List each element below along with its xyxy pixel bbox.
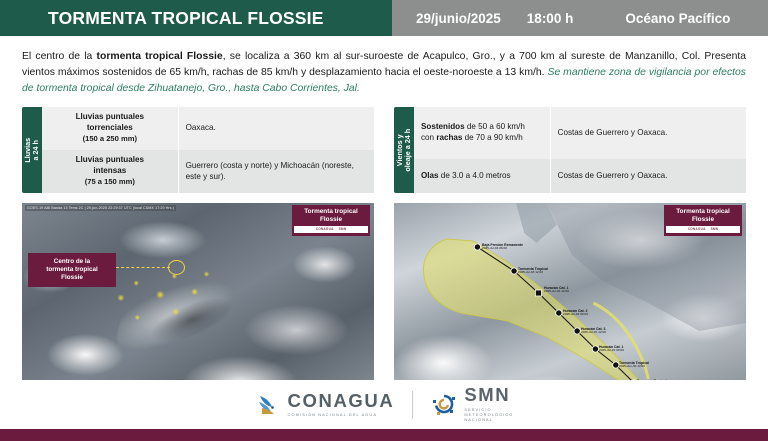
conagua-logo-icon: CONAGUA: [316, 227, 334, 231]
center-label-l1: Centro de la: [54, 258, 90, 265]
storm-center-ring-icon: [168, 260, 185, 275]
image-panels: GOES-19 ABI Banda 13 Tems 2C | 29-jun-20…: [22, 203, 746, 408]
summary-storm-name: tormenta tropical Flossie: [97, 51, 223, 62]
table-row: Lluvias puntuales torrenciales (150 a 25…: [42, 107, 374, 150]
track-label-5-stamp: 2025-Jul-01 00:00: [599, 349, 624, 353]
rain-table: Lluviasa 24 h Lluvias puntuales torrenci…: [22, 107, 374, 193]
wind-row0-t1: de 50 a 60 km/h: [465, 122, 525, 131]
wind-table: Vientos yoleaje a 24 h Sostenidos de 50 …: [394, 107, 746, 193]
summary-part1: El centro de la: [22, 51, 97, 62]
satellite-storm-badge: Tormenta tropical Flossie CONAGUA SMN: [292, 205, 370, 236]
bulletin-date: 29/junio/2025: [416, 11, 501, 26]
page-title: TORMENTA TROPICAL FLOSSIE: [0, 0, 392, 36]
rain-row1-range: (75 a 150 mm): [85, 177, 135, 186]
wind-row0-t2: con: [421, 133, 436, 142]
track-label-1-stamp: 2025-Jul-03 12:00: [518, 271, 548, 275]
wind-row0-areas: Costas de Guerrero y Oaxaca.: [550, 107, 746, 159]
rain-row1-kind: Lluvias puntuales intensas (75 a 150 mm): [42, 150, 178, 193]
forecast-tables: Lluviasa 24 h Lluvias puntuales torrenci…: [22, 107, 746, 193]
wind-side-l1: Vientos y: [395, 134, 404, 166]
wind-row1-kind: Olas de 3.0 a 4.0 metros: [414, 159, 550, 193]
track-label-4-stamp: 2025-Jul-01 12:00: [581, 331, 606, 335]
satellite-panel: GOES-19 ABI Banda 13 Tems 2C | 29-jun-20…: [22, 203, 374, 408]
bulletin-basin: Océano Pacífico: [625, 11, 730, 26]
rain-row0-areas: Oaxaca.: [178, 107, 374, 150]
track-label-2: Huracán Cat. 1 2025-Jul-02 12:00: [544, 286, 569, 294]
track-label-2-stamp: 2025-Jul-02 12:00: [544, 290, 569, 294]
smn-name: SMN: [464, 386, 513, 405]
wind-row0-kind: Sostenidos de 50 a 60 km/h con rachas de…: [414, 107, 550, 159]
trajectory-panel: Baja Presión Remanente 2025-Jul-04 06:00…: [394, 203, 746, 408]
summary-paragraph: El centro de la tormenta tropical Flossi…: [22, 49, 746, 96]
center-label-l3: Flossie: [61, 274, 83, 281]
rain-row0-kind: Lluvias puntuales torrenciales (150 a 25…: [42, 107, 178, 150]
smn-logo-icon: SMN: [711, 227, 719, 231]
table-row: Lluvias puntuales intensas (75 a 150 mm)…: [42, 150, 374, 193]
conagua-eagle-water-icon: [255, 392, 281, 418]
footer-accent-bar: [0, 429, 768, 441]
rain-row1-areas: Guerrero (costa y norte) y Michoacán (no…: [178, 150, 374, 193]
track-label-3-stamp: 2025-Jul-02 00:00: [563, 313, 588, 317]
trajectory-storm-badge: Tormenta tropical Flossie CONAGUA SMN: [664, 205, 742, 236]
table-row: Sostenidos de 50 a 60 km/h con rachas de…: [414, 107, 746, 159]
smn-sub-l2: METEOROLÓGICO: [464, 412, 513, 417]
rain-row1-kind-l1: Lluvias puntuales: [76, 155, 144, 164]
wind-row0-t3: de 70 a 90 km/h: [462, 133, 522, 142]
footer-divider: [412, 391, 413, 419]
satellite-metadata: GOES-19 ABI Banda 13 Tems 2C | 29-jun-20…: [25, 205, 176, 211]
header-bar: TORMENTA TROPICAL FLOSSIE 29/junio/2025 …: [0, 0, 768, 36]
track-label-0-stamp: 2025-Jul-04 06:00: [482, 247, 523, 251]
sat-badge-l1: Tormenta tropical: [304, 208, 358, 215]
badge-logos: CONAGUA SMN: [294, 226, 368, 233]
rain-row0-range: (150 a 250 mm): [83, 134, 137, 143]
bulletin-page: TORMENTA TROPICAL FLOSSIE 29/junio/2025 …: [0, 0, 768, 441]
smn-sub-l1: SERVICIO: [464, 407, 491, 412]
wind-side-l2: oleaje a 24 h: [403, 129, 412, 172]
wind-row1-t1: de 3.0 a 4.0 metros: [439, 171, 511, 180]
track-label-4: Huracán Cat. 3 2025-Jul-01 12:00: [581, 327, 606, 335]
footer-logos: CONAGUA COMISIÓN NACIONAL DEL AGUA: [0, 380, 768, 429]
rain-side-l1: Lluvias: [23, 138, 32, 163]
bulletin-time: 18:00 h: [527, 11, 574, 26]
conagua-logo-icon: CONAGUA: [688, 227, 706, 231]
conagua-subtitle: COMISIÓN NACIONAL DEL AGUA: [288, 412, 395, 417]
rain-row1-kind-l2: intensas: [93, 166, 126, 175]
rain-row0-kind-l2: torrenciales: [87, 123, 133, 132]
smn-wordmark: SMN SERVICIO METEOROLÓGICO NACIONAL: [464, 386, 513, 422]
rain-table-side-label: Lluviasa 24 h: [22, 107, 42, 193]
track-label-0: Baja Presión Remanente 2025-Jul-04 06:00: [482, 243, 523, 251]
smn-spiral-icon: [431, 391, 457, 417]
traj-badge-l1: Tormenta tropical: [676, 208, 730, 215]
smn-logo-icon: SMN: [339, 227, 347, 231]
callout-leader-line: [116, 267, 170, 268]
badge-logos: CONAGUA SMN: [666, 226, 740, 233]
track-label-5: Huracán Cat. 1 2025-Jul-01 00:00: [599, 345, 624, 353]
table-row: Olas de 3.0 a 4.0 metros Costas de Guerr…: [414, 159, 746, 193]
conagua-brand: CONAGUA COMISIÓN NACIONAL DEL AGUA: [255, 392, 395, 418]
smn-brand: SMN SERVICIO METEOROLÓGICO NACIONAL: [431, 386, 513, 422]
track-label-1: Tormenta Tropical 2025-Jul-03 12:00: [518, 267, 548, 275]
conagua-wordmark: CONAGUA COMISIÓN NACIONAL DEL AGUA: [288, 392, 395, 418]
storm-center-callout: Centro de la tormenta tropical Flossie: [28, 253, 116, 288]
header-meta: 29/junio/2025 18:00 h Océano Pacífico: [392, 0, 768, 36]
sat-badge-l2: Flossie: [320, 216, 342, 223]
smn-sub-l3: NACIONAL: [464, 417, 493, 422]
wind-row1-areas: Costas de Guerrero y Oaxaca.: [550, 159, 746, 193]
rain-row0-kind-l1: Lluvias puntuales: [76, 112, 144, 121]
wind-row1-b1: Olas: [421, 171, 439, 180]
rain-side-l2: a 24 h: [31, 140, 40, 160]
track-label-6: Tormenta Tropical 2025-Jun-30 12:00: [619, 361, 649, 369]
wind-table-side-label: Vientos yoleaje a 24 h: [394, 107, 414, 193]
traj-badge-l2: Flossie: [692, 216, 714, 223]
center-label-l2: tormenta tropical: [46, 266, 97, 273]
wind-row0-b1: Sostenidos: [421, 122, 465, 131]
footer: CONAGUA COMISIÓN NACIONAL DEL AGUA: [0, 380, 768, 441]
track-label-3: Huracán Cat. 2 2025-Jul-02 00:00: [563, 309, 588, 317]
wind-row0-b2: rachas: [436, 133, 462, 142]
smn-subtitle: SERVICIO METEOROLÓGICO NACIONAL: [464, 407, 513, 423]
conagua-name: CONAGUA: [288, 392, 395, 411]
track-label-6-stamp: 2025-Jun-30 12:00: [619, 365, 649, 369]
